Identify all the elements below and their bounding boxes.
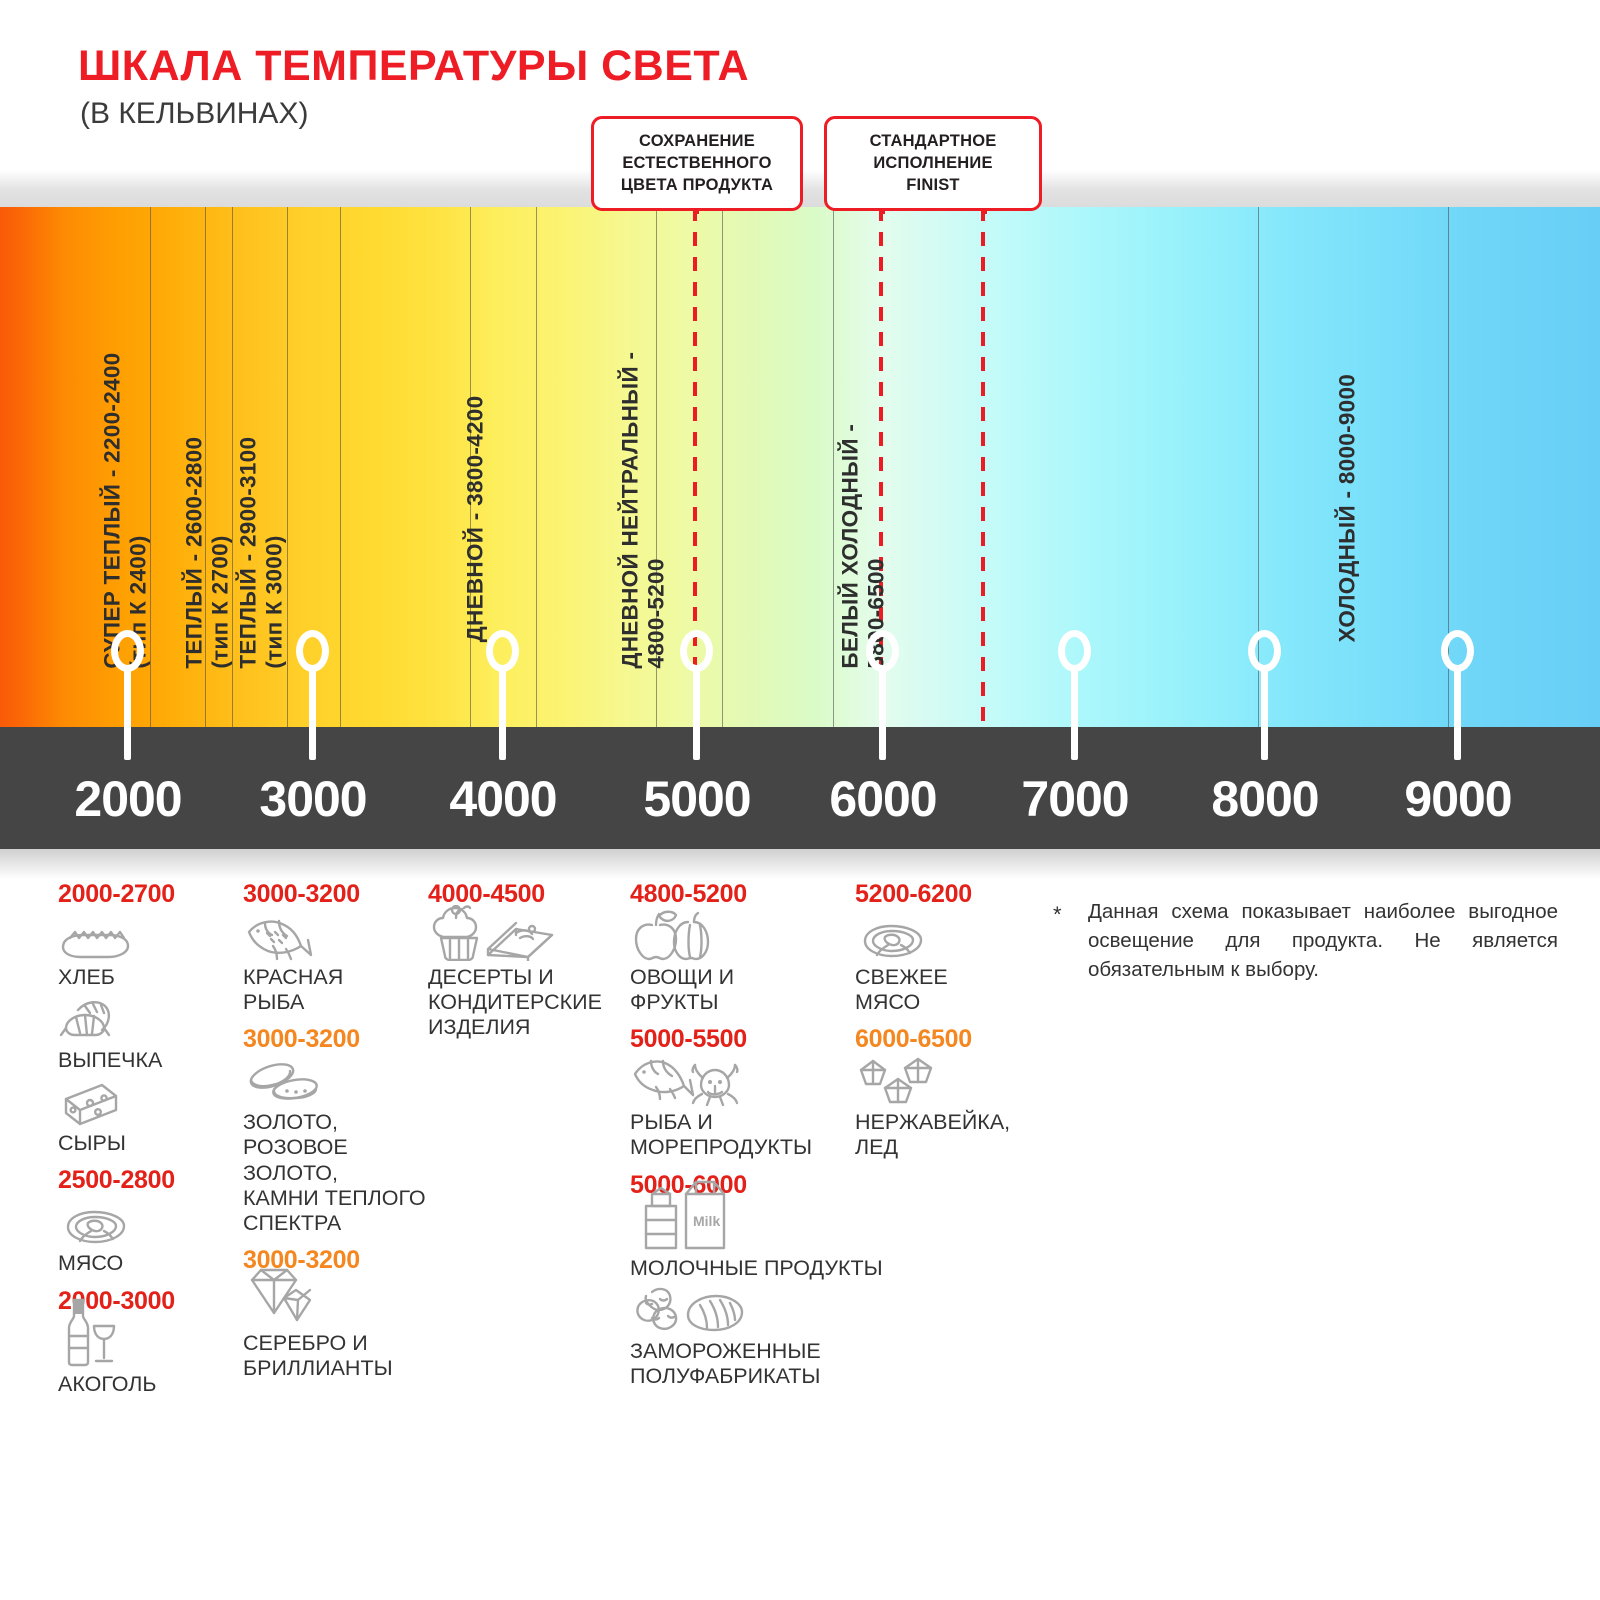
zone-label-daylight: ДНЕВНОЙ - 3800-4200 (463, 396, 489, 643)
legend-range-label: 6000-6500 (855, 1025, 1035, 1054)
legend-group: 6000-6500 НЕРЖАВЕЙКА, ЛЕД (855, 1025, 1035, 1160)
cheese-icon (58, 1081, 238, 1127)
legend-item-label: РЫБА И МОРЕПРОДУКТЫ (630, 1110, 855, 1160)
legend-item: СВЕЖЕЕ МЯСО (855, 915, 1035, 1015)
legend-item: КРАСНАЯ РЫБА (243, 915, 428, 1015)
frozen-food-icon (630, 1289, 855, 1335)
page-subtitle: (В КЕЛЬВИНАХ) (80, 97, 308, 131)
legend-group: 5200-6200 СВЕЖЕЕ МЯСО (855, 880, 1035, 1015)
zone-divider (833, 207, 834, 727)
legend-group: 5000-5500 РЫБА И МОРЕПРОДУКТЫ (630, 1025, 855, 1160)
legend-item: ЗАМОРОЖЕННЫЕ ПОЛУФАБРИКАТЫ (630, 1289, 855, 1389)
footnote-text: Данная схема показывает наиболее выгодно… (1088, 897, 1558, 984)
legend-group: 3000-3200 КРАСНАЯ РЫБА (243, 880, 428, 1015)
callout-finist-standard: СТАНДАРТНОЕИСПОЛНЕНИЕFINIST (824, 116, 1042, 211)
zone-divider (536, 207, 537, 727)
scale-tick-2000: 2000 (74, 770, 181, 828)
legend-item-label: ЗОЛОТО, РОЗОВОЕ ЗОЛОТО, КАМНИ ТЕПЛОГО СП… (243, 1110, 428, 1236)
svg-text:Milk: Milk (693, 1213, 720, 1229)
legend-range-label: 3000-3200 (243, 880, 428, 909)
legend-group: 4000-4500 ДЕСЕРТЫ И КОНДИТЕРСКИЕ ИЗДЕЛИЯ (428, 880, 623, 1040)
legend-item: ЗОЛОТО, РОЗОВОЕ ЗОЛОТО, КАМНИ ТЕПЛОГО СП… (243, 1060, 428, 1236)
zone-label-super-warm: СУПЕР ТЕПЛЫЙ - 2200-2400(тип К 2400) (99, 353, 152, 669)
zone-label-daylight-neutral: ДНЕВНОЙ НЕЙТРАЛЬНЫЙ -4800-5200 (617, 352, 670, 669)
legend-item-label: ВЫПЕЧКА (58, 1048, 238, 1073)
scale-tick-6000: 6000 (829, 770, 936, 828)
legend-range-label: 2000-2700 (58, 880, 238, 909)
footnote-marker: * (1053, 899, 1062, 930)
bread-icon (58, 915, 238, 961)
scale-band (0, 727, 1600, 849)
milk-icon: Milk (630, 1206, 855, 1252)
alcohol-icon (58, 1322, 238, 1368)
infographic-root: ШКАЛА ТЕМПЕРАТУРЫ СВЕТА (В КЕЛЬВИНАХ) СО… (0, 0, 1600, 1600)
legend-item: РЫБА И МОРЕПРОДУКТЫ (630, 1060, 855, 1160)
legend-item: ДЕСЕРТЫ И КОНДИТЕРСКИЕ ИЗДЕЛИЯ (428, 915, 623, 1040)
legend-group: 2500-2800 МЯСО (58, 1166, 238, 1276)
legend-item-label: НЕРЖАВЕЙКА, ЛЕД (855, 1110, 1035, 1160)
steak-icon (58, 1201, 238, 1247)
legend-item: НЕРЖАВЕЙКА, ЛЕД (855, 1060, 1035, 1160)
zone-divider (340, 207, 341, 727)
seafood-icon (630, 1060, 855, 1106)
legend-item-label: СВЕЖЕЕ МЯСО (855, 965, 1035, 1015)
rings-icon (243, 1060, 428, 1106)
legend: 2000-2700 ХЛЕБ ВЫПЕЧКА СЫРЫ2500-2800 МЯС… (0, 880, 1600, 1600)
red-dashed-line-standard-right (981, 207, 985, 727)
legend-item-label: МЯСО (58, 1251, 238, 1276)
croissant-icon (58, 998, 238, 1044)
legend-item: СЫРЫ (58, 1081, 238, 1156)
legend-group: 2000-3000 АКОГОЛЬ (58, 1287, 238, 1397)
legend-range-label: 5200-6200 (855, 880, 1035, 909)
scale-band-shadow (0, 849, 1600, 879)
legend-item: АКОГОЛЬ (58, 1322, 238, 1397)
scale-tick-4000: 4000 (449, 770, 556, 828)
scale-tick-9000: 9000 (1404, 770, 1511, 828)
zone-label-warm-3000: ТЕПЛЫЙ - 2900-3100(тип К 3000) (235, 437, 288, 669)
legend-column-column-4000-4500: 4000-4500 ДЕСЕРТЫ И КОНДИТЕРСКИЕ ИЗДЕЛИЯ (428, 880, 623, 1050)
legend-item-label: ОВОЩИ И ФРУКТЫ (630, 965, 855, 1015)
legend-item: ВЫПЕЧКА (58, 998, 238, 1073)
zone-label-warm-2700: ТЕПЛЫЙ - 2600-2800(тип К 2700) (181, 437, 234, 669)
legend-column-column-4800-6000: 4800-5200 ОВОЩИ И ФРУКТЫ5000-5500 РЫБА И… (630, 880, 855, 1399)
legend-item: ОВОЩИ И ФРУКТЫ (630, 915, 855, 1015)
legend-column-column-2000-2700: 2000-2700 ХЛЕБ ВЫПЕЧКА СЫРЫ2500-2800 МЯС… (58, 880, 238, 1407)
legend-column-column-3000-3200: 3000-3200 КРАСНАЯ РЫБА3000-3200 ЗОЛОТО, … (243, 880, 428, 1391)
legend-group: 2000-2700 ХЛЕБ ВЫПЕЧКА СЫРЫ (58, 880, 238, 1156)
legend-item: ХЛЕБ (58, 915, 238, 990)
legend-item-label: ЗАМОРОЖЕННЫЕ ПОЛУФАБРИКАТЫ (630, 1339, 855, 1389)
fish-icon (243, 915, 428, 961)
page-title: ШКАЛА ТЕМПЕРАТУРЫ СВЕТА (78, 42, 749, 91)
scale-tick-7000: 7000 (1021, 770, 1128, 828)
legend-item-label: СЕРЕБРО И БРИЛЛИАНТЫ (243, 1331, 428, 1381)
diamond-icon (243, 1281, 428, 1327)
legend-range-label: 3000-3200 (243, 1025, 428, 1054)
legend-item-label: ДЕСЕРТЫ И КОНДИТЕРСКИЕ ИЗДЕЛИЯ (428, 965, 623, 1040)
fruits-vegetables-icon (630, 915, 855, 961)
legend-range-label: 5000-5500 (630, 1025, 855, 1054)
legend-group: 3000-3200 ЗОЛОТО, РОЗОВОЕ ЗОЛОТО, КАМНИ … (243, 1025, 428, 1236)
legend-item-label: МОЛОЧНЫЕ ПРОДУКТЫ (630, 1256, 855, 1281)
legend-range-label: 2500-2800 (58, 1166, 238, 1195)
footnote: * Данная схема показывает наиболее выгод… (1053, 897, 1558, 984)
legend-item-label: КРАСНАЯ РЫБА (243, 965, 428, 1015)
legend-item: MilkМОЛОЧНЫЕ ПРОДУКТЫ (630, 1206, 855, 1281)
zone-divider (722, 207, 723, 727)
legend-item-label: ХЛЕБ (58, 965, 238, 990)
legend-column-column-5200-6500: 5200-6200 СВЕЖЕЕ МЯСО6000-6500 НЕРЖАВЕЙК… (855, 880, 1035, 1171)
scale-tick-8000: 8000 (1211, 770, 1318, 828)
ice-cubes-icon (855, 1060, 1035, 1106)
legend-group: 4800-5200 ОВОЩИ И ФРУКТЫ (630, 880, 855, 1015)
scale-tick-3000: 3000 (259, 770, 366, 828)
legend-range-label: 4800-5200 (630, 880, 855, 909)
legend-item: СЕРЕБРО И БРИЛЛИАНТЫ (243, 1281, 428, 1381)
callout-natural-color: СОХРАНЕНИЕЕСТЕСТВЕННОГОЦВЕТА ПРОДУКТА (591, 116, 803, 211)
scale-tick-5000: 5000 (643, 770, 750, 828)
legend-item-label: СЫРЫ (58, 1131, 238, 1156)
dessert-icon (428, 915, 623, 961)
zone-label-cold: ХОЛОДНЫЙ - 8000-9000 (1335, 374, 1361, 642)
legend-group: 5000-6000 MilkМОЛОЧНЫЕ ПРОДУКТЫ ЗАМОРОЖЕ… (630, 1171, 855, 1389)
legend-item: МЯСО (58, 1201, 238, 1276)
fresh-meat-icon (855, 915, 1035, 961)
legend-item-label: АКОГОЛЬ (58, 1372, 238, 1397)
legend-group: 3000-3200 СЕРЕБРО И БРИЛЛИАНТЫ (243, 1246, 428, 1381)
